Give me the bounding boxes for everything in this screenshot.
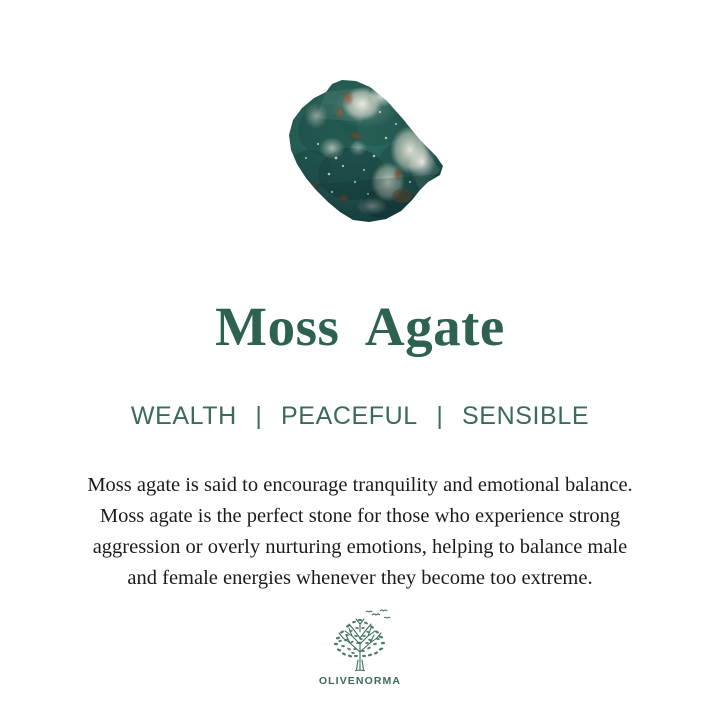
product-description: Moss agate is said to encourage tranquil… bbox=[0, 470, 720, 594]
keyword-sensible: SENSIBLE bbox=[462, 400, 589, 432]
gemstone-icon bbox=[270, 78, 450, 228]
brand-name: OLIVENORMA bbox=[319, 675, 401, 687]
keyword-separator: | bbox=[244, 400, 273, 432]
page-title: Moss Agate bbox=[0, 296, 720, 358]
keyword-list: WEALTH | PEACEFUL | SENSIBLE bbox=[0, 400, 720, 432]
description-line: Moss agate is said to encourage tranquil… bbox=[0, 470, 720, 501]
product-info-card: Moss Agate WEALTH | PEACEFUL | SENSIBLE … bbox=[0, 0, 720, 720]
tree-icon bbox=[322, 608, 398, 674]
brand-logo: OLIVENORMA bbox=[0, 608, 720, 687]
description-line: and female energies whenever they become… bbox=[0, 563, 720, 594]
keyword-wealth: WEALTH bbox=[131, 400, 237, 432]
product-image-container bbox=[0, 0, 720, 260]
keyword-peaceful: PEACEFUL bbox=[281, 400, 418, 432]
description-line: aggression or overly nurturing emotions,… bbox=[0, 532, 720, 563]
keyword-separator: | bbox=[425, 400, 454, 432]
description-line: Moss agate is the perfect stone for thos… bbox=[0, 501, 720, 532]
